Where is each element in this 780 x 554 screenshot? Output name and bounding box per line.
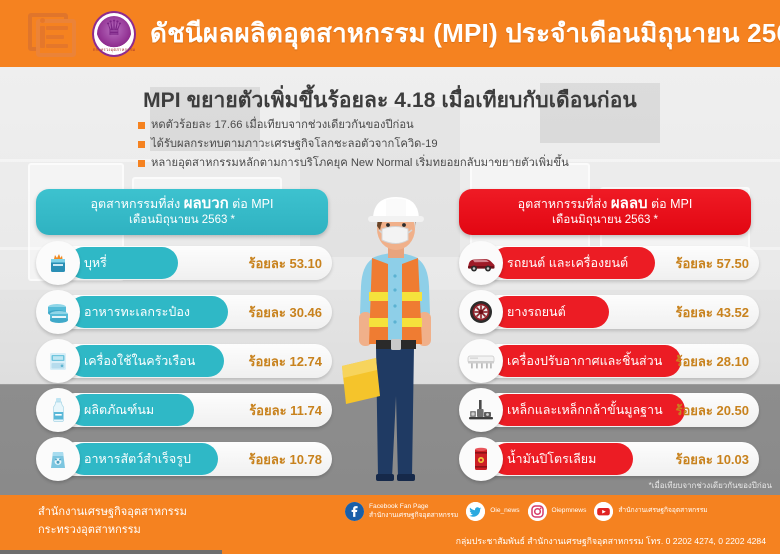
footer-organization: สำนักงานเศรษฐกิจอุตสาหกรรม กระทรวงอุตสาห… [38,503,187,539]
item-label-pill: เหล็กและเหล็กกล้าขั้นมูลฐาน [491,394,685,426]
item-label-pill: บุหรี่ [68,247,178,279]
negative-title-post: ต่อ MPI [648,197,693,211]
item-label: รถยนต์ และเครื่องยนต์ [507,253,628,273]
page-title: ดัชนีผลผลิตอุตสาหกรรม (MPI) ประจำเดือนมิ… [150,13,780,54]
bullet-item: ได้รับผลกระทบตามภาวะเศรษฐกิจโลกชะลอตัวจา… [138,136,658,153]
negative-title-strong: ผลลบ [611,195,648,212]
social-links: Facebook Fan Page สำนักงานเศรษฐกิจอุตสาห… [345,502,708,521]
youtube-link[interactable]: สำนักงานเศรษฐกิจอุตสาหกรรม [594,502,707,521]
item-value: ร้อยละ 12.74 [249,339,323,383]
item-label: ยางรถยนต์ [507,302,566,322]
bullet-square-icon [138,160,145,167]
item-label: บุหรี่ [84,253,107,273]
pet-food-bag-icon [36,437,80,481]
item-label: น้ำมันปิโตรเลียม [507,449,596,469]
cigarette-pack-icon [36,241,80,285]
bullet-item: หลายอุตสาหกรรมหลักตามการบริโภคยุค New No… [138,155,658,172]
negative-panel-title: อุตสาหกรรมที่ส่ง ผลลบ ต่อ MPI [518,196,693,212]
item-label: เครื่องปรับอากาศและชิ้นส่วน [507,351,662,371]
item-label: เครื่องใช้ในครัวเรือน [84,351,195,371]
item-value: ร้อยละ 10.78 [249,437,323,481]
page-header: ♛ กระทรวงอุตสาหกรรม ดัชนีผลผลิตอุตสาหกรร… [0,0,780,67]
ministry-of-industry-emblem: ♛ กระทรวงอุตสาหกรรม [92,11,136,57]
list-item[interactable]: ยางรถยนต์ ร้อยละ 43.52 [459,290,759,334]
item-label-pill: น้ำมันปิโตรเลียม [491,443,633,475]
facebook-line2: สำนักงานเศรษฐกิจอุตสาหกรรม [369,512,458,519]
facebook-link[interactable]: Facebook Fan Page สำนักงานเศรษฐกิจอุตสาห… [345,502,458,521]
footer-org-line2: กระทรวงอุตสาหกรรม [38,521,187,539]
bullet-text: หลายอุตสาหกรรมหลักตามการบริโภคยุค New No… [151,155,569,172]
footer-org-line1: สำนักงานเศรษฐกิจอุตสาหกรรม [38,503,187,521]
tire-icon [459,290,503,334]
instagram-icon[interactable] [528,502,547,521]
instagram-label: Oiepmnews [552,507,587,515]
car-icon [459,241,503,285]
bullet-text: หดตัวร้อยละ 17.66 เมื่อเทียบจากช่วงเดียว… [151,117,414,134]
bullet-square-icon [138,122,145,129]
canned-seafood-icon [36,290,80,334]
steel-parts-icon [459,388,503,432]
item-label-pill: เครื่องปรับอากาศและชิ้นส่วน [491,345,681,377]
positive-panel-header: อุตสาหกรรมที่ส่ง ผลบวก ต่อ MPI เดือนมิถุ… [36,189,328,235]
list-item[interactable]: บุหรี่ ร้อยละ 53.10 [36,241,332,285]
item-label-pill: อาหารสัตว์สำเร็จรูป [68,443,218,475]
item-label-pill: ผลิตภัณฑ์นม [68,394,194,426]
item-value: ร้อยละ 11.74 [249,388,322,432]
item-label-pill: ยางรถยนต์ [491,296,609,328]
positive-panel-title: อุตสาหกรรมที่ส่ง ผลบวก ต่อ MPI [90,196,273,212]
air-conditioner-icon [459,339,503,383]
youtube-label: สำนักงานเศรษฐกิจอุตสาหกรรม [618,507,707,515]
positive-title-post: ต่อ MPI [229,197,274,211]
item-value: ร้อยละ 57.50 [676,241,750,285]
bullet-list: หดตัวร้อยละ 17.66 เมื่อเทียบจากช่วงเดียว… [138,117,658,174]
negative-panel-header: อุตสาหกรรมที่ส่ง ผลลบ ต่อ MPI เดือนมิถุน… [459,189,751,235]
bullet-text: ได้รับผลกระทบตามภาวะเศรษฐกิจโลกชะลอตัวจา… [151,136,438,153]
item-value: ร้อยละ 53.10 [249,241,323,285]
item-label: อาหารสัตว์สำเร็จรูป [84,449,191,469]
twitter-label: Oie_news [490,507,519,515]
milk-bottle-icon [36,388,80,432]
negative-title-pre: อุตสาหกรรมที่ส่ง [518,197,611,211]
youtube-icon[interactable] [594,502,613,521]
factory-worker-illustration [336,196,456,486]
infographic-page: ♛ กระทรวงอุตสาหกรรม ดัชนีผลผลิตอุตสาหกรร… [0,0,780,554]
list-item[interactable]: เหล็กและเหล็กกล้าขั้นมูลฐาน ร้อยละ 20.50 [459,388,759,432]
list-item[interactable]: รถยนต์ และเครื่องยนต์ ร้อยละ 57.50 [459,241,759,285]
list-item[interactable]: อาหารทะเลกระป๋อง ร้อยละ 30.46 [36,290,332,334]
twitter-icon[interactable] [466,502,485,521]
headline: MPI ขยายตัวเพิ่มขึ้นร้อยละ 4.18 เมื่อเที… [0,84,780,117]
item-label-pill: รถยนต์ และเครื่องยนต์ [491,247,655,279]
item-label-pill: อาหารทะเลกระป๋อง [68,296,228,328]
bullet-item: หดตัวร้อยละ 17.66 เมื่อเทียบจากช่วงเดียว… [138,117,658,134]
item-label: เหล็กและเหล็กกล้าขั้นมูลฐาน [507,400,663,420]
footer-contact: กลุ่มประชาสัมพันธ์ สำนักงานเศรษฐกิจอุตสา… [456,534,766,548]
instagram-link[interactable]: Oiepmnews [528,502,587,521]
item-value: ร้อยละ 43.52 [676,290,750,334]
footer-tab-strip [0,550,222,554]
item-value: ร้อยละ 10.03 [676,437,750,481]
positive-panel-subtitle: เดือนมิถุนายน 2563 * [129,212,235,228]
twitter-link[interactable]: Oie_news [466,502,519,521]
list-item[interactable]: เครื่องใช้ในครัวเรือน ร้อยละ 12.74 [36,339,332,383]
item-label: ผลิตภัณฑ์นม [84,400,154,420]
facebook-icon[interactable] [345,502,364,521]
list-item[interactable]: อาหารสัตว์สำเร็จรูป ร้อยละ 10.78 [36,437,332,481]
facebook-label: Facebook Fan Page สำนักงานเศรษฐกิจอุตสาห… [369,503,458,520]
item-label-pill: เครื่องใช้ในครัวเรือน [68,345,224,377]
bullet-square-icon [138,141,145,148]
item-value: ร้อยละ 28.10 [676,339,750,383]
emblem-arc-text: กระทรวงอุตสาหกรรม [92,48,136,53]
home-appliance-icon [36,339,80,383]
item-value: ร้อยละ 20.50 [676,388,750,432]
facebook-line1: Facebook Fan Page [369,503,428,510]
emblem-glyph: ♛ [92,18,136,39]
item-label: อาหารทะเลกระป๋อง [84,302,190,322]
oil-barrel-icon [459,437,503,481]
page-footer: สำนักงานเศรษฐกิจอุตสาหกรรม กระทรวงอุตสาห… [0,495,780,554]
list-item[interactable]: ผลิตภัณฑ์นม ร้อยละ 11.74 [36,388,332,432]
positive-title-pre: อุตสาหกรรมที่ส่ง [90,197,183,211]
list-item[interactable]: น้ำมันปิโตรเลียม ร้อยละ 10.03 [459,437,759,481]
item-value: ร้อยละ 30.46 [249,290,323,334]
positive-title-strong: ผลบวก [184,195,229,212]
negative-panel-subtitle: เดือนมิถุนายน 2563 * [552,212,658,228]
oie-logo [24,9,78,59]
list-item[interactable]: เครื่องปรับอากาศและชิ้นส่วน ร้อยละ 28.10 [459,339,759,383]
